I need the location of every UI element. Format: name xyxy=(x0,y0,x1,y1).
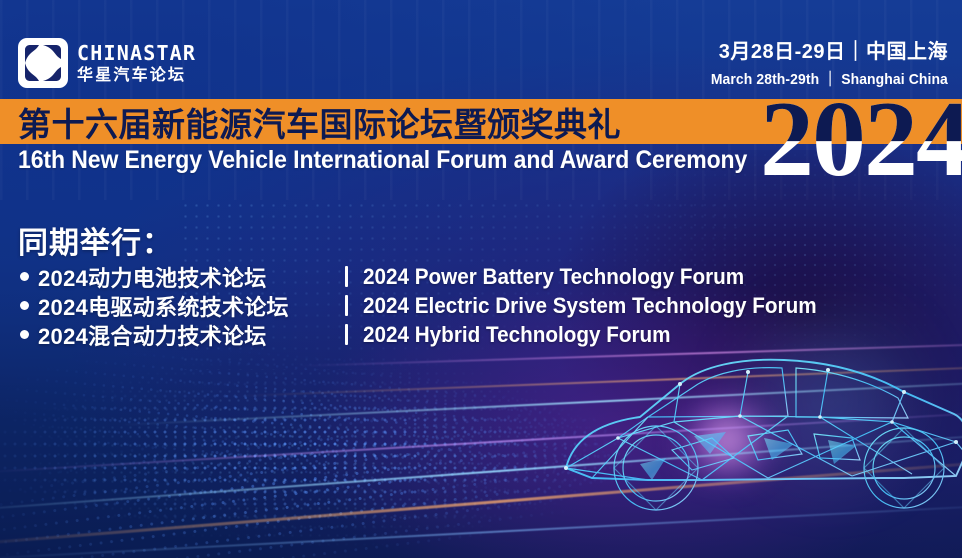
bullet-icon xyxy=(20,330,29,339)
list-item[interactable]: 2024混合动力技术论坛 2024 Hybrid Technology Foru… xyxy=(20,320,846,349)
divider xyxy=(345,295,348,316)
forum-name-cn-slot: 2024电驱动系统技术论坛 xyxy=(38,290,345,322)
divider xyxy=(345,266,348,287)
forum-name-en: 2024 Hybrid Technology Forum xyxy=(363,322,671,348)
forum-name-cn: 2024电驱动系统技术论坛 xyxy=(38,290,289,322)
list-item[interactable]: 2024动力电池技术论坛 2024 Power Battery Technolo… xyxy=(20,262,846,291)
concurrent-forum-list: 2024动力电池技术论坛 2024 Power Battery Technolo… xyxy=(20,262,846,349)
brand-logo[interactable]: CHINASTAR 华星汽车论坛 xyxy=(18,38,196,88)
event-date-cn: 3月28日-29日｜中国上海 xyxy=(693,40,948,65)
list-item[interactable]: 2024电驱动系统技术论坛 2024 Electric Drive System… xyxy=(20,291,846,320)
brand-name-cn: 华星汽车论坛 xyxy=(77,68,196,84)
wireframe-car-icon xyxy=(552,318,962,548)
divider xyxy=(345,324,348,345)
bullet-icon xyxy=(20,272,29,281)
star-flower-emblem-icon xyxy=(18,38,68,88)
concurrent-heading: 同期举行： xyxy=(18,218,173,262)
forum-name-en: 2024 Electric Drive System Technology Fo… xyxy=(363,293,817,319)
forum-name-cn-slot: 2024混合动力技术论坛 xyxy=(38,319,345,351)
poster-canvas: CHINASTAR 华星汽车论坛 3月28日-29日｜中国上海 March 28… xyxy=(0,0,962,558)
event-title-cn: 第十六届新能源汽车国际论坛暨颁奖典礼 xyxy=(18,99,621,144)
forum-name-en: 2024 Power Battery Technology Forum xyxy=(363,264,744,290)
bullet-icon xyxy=(20,301,29,310)
forum-name-cn-slot: 2024动力电池技术论坛 xyxy=(38,261,345,293)
event-title-en: 16th New Energy Vehicle International Fo… xyxy=(18,146,747,175)
forum-name-cn: 2024动力电池技术论坛 xyxy=(38,261,267,293)
brand-wordmark: CHINASTAR 华星汽车论坛 xyxy=(77,43,196,84)
event-year: 2024 2024 xyxy=(760,86,962,194)
forum-name-cn: 2024混合动力技术论坛 xyxy=(38,319,267,351)
brand-name-en: CHINASTAR xyxy=(77,43,196,63)
